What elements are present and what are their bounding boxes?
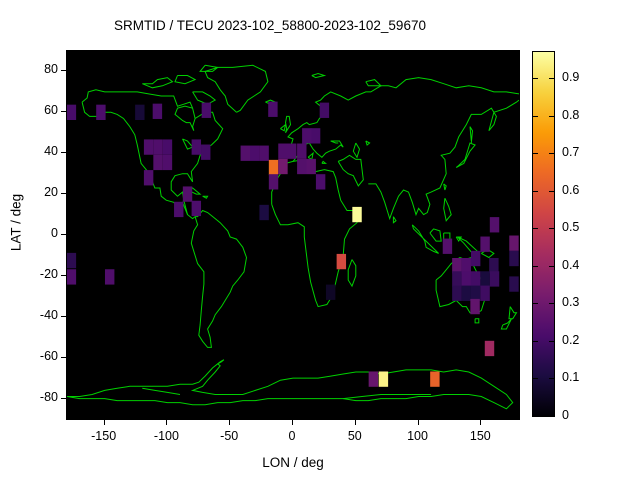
heatmap-cell [67, 105, 76, 120]
y-tick-label: -40 [16, 308, 58, 322]
colorbar-tick-mark [533, 78, 538, 79]
y-tick-mark [61, 316, 66, 317]
heatmap-cell [316, 174, 325, 189]
y-tick-label: 60 [16, 103, 58, 117]
x-tick-mark [229, 420, 230, 425]
heatmap-cell [297, 144, 306, 159]
heatmap-cell [470, 299, 479, 314]
y-tick-mark [61, 193, 66, 194]
heatmap-cell [259, 205, 268, 220]
heatmap-cell [352, 207, 361, 222]
y-tick-label: -80 [16, 390, 58, 404]
y-tick-label: 80 [16, 62, 58, 76]
colorbar-tick-mark [549, 303, 554, 304]
colorbar-tick-label: 0.3 [562, 295, 579, 309]
heatmap-cell [278, 159, 287, 174]
heatmap-cell [320, 103, 329, 118]
x-tick-mark [355, 420, 356, 425]
colorbar-tick-mark [549, 116, 554, 117]
colorbar-tick-mark [549, 191, 554, 192]
colorbar-tick-mark [533, 303, 538, 304]
colorbar-tick-mark [549, 416, 554, 417]
heatmap-cell [480, 237, 489, 252]
heatmap-cell [480, 271, 489, 286]
colorbar-tick-label: 0.1 [562, 370, 579, 384]
colorbar-tick-label: 0.5 [562, 220, 579, 234]
heatmap-cell [471, 251, 480, 266]
colorbar-tick-mark [533, 191, 538, 192]
heatmap-cell [471, 271, 480, 286]
y-tick-mark [61, 152, 66, 153]
heatmap-cell [202, 103, 211, 118]
x-tick-label: -100 [136, 429, 196, 443]
colorbar-tick-label: 0.4 [562, 258, 579, 272]
x-tick-label: -150 [74, 429, 134, 443]
heatmap-cell [302, 128, 311, 143]
heatmap-cells [67, 51, 519, 419]
y-tick-label: -60 [16, 349, 58, 363]
x-tick-mark [104, 420, 105, 425]
heatmap-cell [369, 371, 378, 386]
heatmap-cell [67, 269, 76, 284]
colorbar-tick-mark [549, 78, 554, 79]
heatmap-cell [153, 104, 162, 119]
colorbar-tick-mark [549, 228, 554, 229]
heatmap-cell [379, 371, 388, 386]
y-tick-mark [61, 357, 66, 358]
heatmap-cell [201, 145, 210, 160]
colorbar-tick-mark [533, 228, 538, 229]
page-title: SRMTID / TECU 2023-102_58800-2023-102_59… [0, 18, 540, 33]
heatmap-cell [311, 128, 320, 143]
heatmap-cell [462, 258, 471, 273]
heatmap-cell [326, 285, 335, 300]
heatmap-cell [183, 186, 192, 201]
heatmap-cell [287, 144, 296, 159]
colorbar-tick-mark [533, 266, 538, 267]
colorbar-tick-mark [533, 116, 538, 117]
y-axis-title: LAT / deg [9, 163, 24, 283]
heatmap-cell [430, 371, 439, 386]
colorbar-tick-label: 0.8 [562, 108, 579, 122]
heatmap-cell [337, 254, 346, 269]
x-tick-mark [418, 420, 419, 425]
colorbar-tick-label: 0.6 [562, 183, 579, 197]
heatmap-cell [462, 286, 471, 301]
heatmap-cell [192, 201, 201, 216]
colorbar-tick-mark [549, 341, 554, 342]
x-tick-mark [166, 420, 167, 425]
heatmap-cell [490, 217, 499, 232]
x-tick-label: 50 [325, 429, 385, 443]
colorbar-tick-mark [533, 416, 538, 417]
y-tick-mark [61, 234, 66, 235]
y-tick-mark [61, 70, 66, 71]
y-tick-mark [61, 398, 66, 399]
colorbar-tick-label: 0.2 [562, 333, 579, 347]
colorbar-tick-label: 0.9 [562, 70, 579, 84]
heatmap-cell [163, 139, 172, 154]
heatmap-cell [135, 105, 144, 120]
x-tick-label: -50 [199, 429, 259, 443]
heatmap-cell [485, 341, 494, 356]
heatmap-cell [489, 258, 498, 273]
x-tick-mark [480, 420, 481, 425]
heatmap-cell [452, 271, 461, 286]
colorbar-tick-mark [533, 153, 538, 154]
x-axis-title: LON / deg [66, 455, 520, 470]
y-tick-mark [61, 275, 66, 276]
heatmap-cell [269, 160, 278, 175]
heatmap-cell [297, 159, 306, 174]
heatmap-cell [192, 139, 201, 154]
heatmap-axes[interactable] [66, 50, 520, 420]
colorbar-gradient [533, 52, 554, 416]
colorbar-tick-mark [533, 378, 538, 379]
heatmap-cell [509, 251, 518, 266]
heatmap-cell [163, 155, 172, 170]
heatmap-cell [509, 276, 518, 291]
heatmap-cell [174, 202, 183, 217]
x-tick-mark [292, 420, 293, 425]
heatmap-cell [105, 269, 114, 284]
colorbar-tick-label: 0.7 [562, 145, 579, 159]
heatmap-cell [269, 174, 278, 189]
y-tick-mark [61, 111, 66, 112]
x-tick-label: 100 [388, 429, 448, 443]
heatmap-cell [471, 286, 480, 301]
heatmap-cell [490, 271, 499, 286]
heatmap-cell [462, 271, 471, 286]
heatmap-cell [259, 146, 268, 161]
heatmap-cell [241, 146, 250, 161]
heatmap-cell [250, 146, 259, 161]
colorbar-tick-mark [549, 266, 554, 267]
heatmap-cell [509, 236, 518, 251]
heatmap-cell [307, 159, 316, 174]
colorbar[interactable] [532, 51, 555, 417]
heatmap-cell [153, 155, 162, 170]
heatmap-cell [144, 170, 153, 185]
colorbar-tick-mark [549, 153, 554, 154]
x-tick-label: 0 [262, 429, 322, 443]
heatmap-cell [153, 139, 162, 154]
colorbar-tick-mark [533, 341, 538, 342]
heatmap-cell [452, 258, 461, 273]
heatmap-cell [144, 139, 153, 154]
heatmap-cell [67, 253, 76, 268]
heatmap-cell [268, 102, 277, 117]
colorbar-tick-mark [549, 378, 554, 379]
heatmap-cell [278, 144, 287, 159]
x-tick-label: 150 [450, 429, 510, 443]
figure-canvas: SRMTID / TECU 2023-102_58800-2023-102_59… [0, 0, 640, 480]
y-tick-label: 40 [16, 144, 58, 158]
colorbar-tick-label: 0 [562, 408, 569, 422]
heatmap-cell [452, 286, 461, 301]
heatmap-cell [443, 239, 452, 254]
heatmap-cell [96, 105, 105, 120]
heatmap-cell [480, 286, 489, 301]
